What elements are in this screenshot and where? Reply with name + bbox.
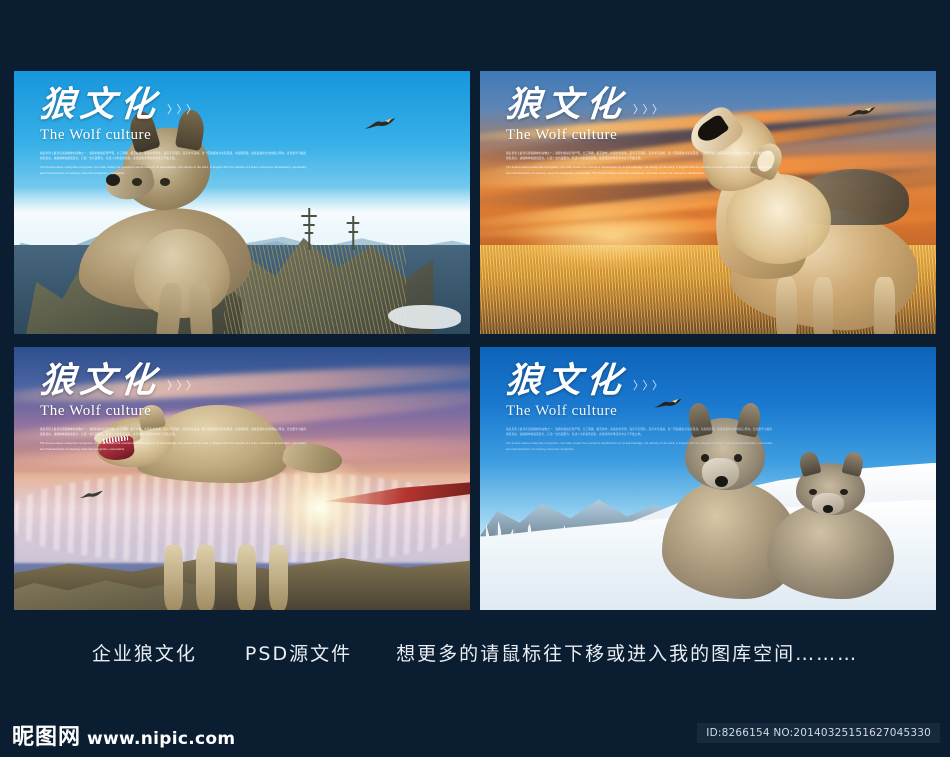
bare-tree-icon bbox=[347, 216, 360, 250]
poster-gallery-page: 狼文化 〉〉〉 The Wolf culture 狼是世界上最具有团队精神的动物… bbox=[0, 0, 950, 757]
title-row: 狼文化 〉〉〉 bbox=[40, 87, 340, 124]
poster-body-en: The human-nature enterprise recognition,… bbox=[506, 165, 774, 176]
footer-item-note: 想更多的请鼠标往下移或进入我的图库空间……… bbox=[396, 639, 858, 666]
poster-body-cn: 狼是世界上最具有团队精神的动物之一，狼群的组织纪律严明，分工明确，相互协作，在狼… bbox=[506, 427, 774, 437]
footer-caption: 企业狼文化 PSD源文件 想更多的请鼠标往下移或进入我的图库空间……… bbox=[0, 636, 950, 668]
sun-glow bbox=[507, 203, 717, 271]
chevron-decoration: 〉〉〉 bbox=[167, 377, 201, 393]
poster-two-wolves-snow[interactable]: 狼文化 〉〉〉 The Wolf culture 狼是世界上最具有团队精神的动物… bbox=[480, 347, 936, 610]
poster-snarling-wolf[interactable]: 狼文化 〉〉〉 The Wolf culture 狼是世界上最具有团队精神的动物… bbox=[14, 347, 470, 610]
brand-bar: 昵图网 www.nipic.com ID:8266154 NO:20140325… bbox=[0, 713, 950, 757]
title-row: 狼文化 〉〉〉 bbox=[506, 363, 806, 400]
poster-body-en: The human-nature enterprise recognition,… bbox=[40, 165, 308, 176]
poster-title-en: The Wolf culture bbox=[506, 127, 806, 144]
poster-howling-wolf[interactable]: 狼文化 〉〉〉 The Wolf culture 狼是世界上最具有团队精神的动物… bbox=[480, 71, 936, 334]
poster-grid: 狼文化 〉〉〉 The Wolf culture 狼是世界上最具有团队精神的动物… bbox=[14, 71, 936, 611]
soaring-bird-icon bbox=[363, 116, 397, 134]
poster-text-block: 狼文化 〉〉〉 The Wolf culture 狼是世界上最具有团队精神的动物… bbox=[40, 363, 340, 453]
title-row: 狼文化 〉〉〉 bbox=[506, 87, 806, 124]
chevron-decoration: 〉〉〉 bbox=[167, 101, 201, 117]
poster-wolf-on-rocks[interactable]: 狼文化 〉〉〉 The Wolf culture 狼是世界上最具有团队精神的动物… bbox=[14, 71, 470, 334]
poster-text-block: 狼文化 〉〉〉 The Wolf culture 狼是世界上最具有团队精神的动物… bbox=[506, 87, 806, 177]
site-logo-cn: 昵图网 bbox=[12, 719, 81, 751]
soaring-bird-icon bbox=[845, 105, 877, 122]
poster-body-en: The human-nature enterprise recognition,… bbox=[40, 441, 308, 452]
poster-title-en: The Wolf culture bbox=[40, 403, 340, 420]
site-logo[interactable]: 昵图网 www.nipic.com bbox=[12, 719, 235, 751]
poster-body-cn: 狼是世界上最具有团队精神的动物之一，狼群的组织纪律严明，分工明确，相互协作，在狼… bbox=[40, 427, 308, 437]
soaring-bird-icon bbox=[78, 489, 104, 503]
wolf-small bbox=[767, 463, 900, 599]
watermark-id-badge: ID:8266154 NO:20140325151627045330 bbox=[697, 723, 940, 743]
poster-title-cn: 狼文化 bbox=[38, 87, 161, 124]
poster-body-en: The human-nature enterprise recognition,… bbox=[506, 441, 774, 452]
poster-body-cn: 狼是世界上最具有团队精神的动物之一，狼群的组织纪律严明，分工明确，相互协作，在狼… bbox=[40, 151, 308, 161]
poster-text-block: 狼文化 〉〉〉 The Wolf culture 狼是世界上最具有团队精神的动物… bbox=[506, 363, 806, 453]
footer-item-format: PSD源文件 bbox=[245, 639, 352, 666]
poster-body-cn: 狼是世界上最具有团队精神的动物之一，狼群的组织纪律严明，分工明确，相互协作，在狼… bbox=[506, 151, 774, 161]
poster-title-en: The Wolf culture bbox=[506, 403, 806, 420]
poster-text-block: 狼文化 〉〉〉 The Wolf culture 狼是世界上最具有团队精神的动物… bbox=[40, 87, 340, 177]
chevron-decoration: 〉〉〉 bbox=[633, 101, 667, 117]
title-row: 狼文化 〉〉〉 bbox=[40, 363, 340, 400]
bare-tree-icon bbox=[301, 208, 317, 250]
poster-title-cn: 狼文化 bbox=[504, 87, 627, 124]
poster-title-cn: 狼文化 bbox=[38, 363, 161, 400]
poster-title-en: The Wolf culture bbox=[40, 127, 340, 144]
poster-title-cn: 狼文化 bbox=[504, 363, 627, 400]
site-logo-url: www.nipic.com bbox=[87, 729, 235, 749]
footer-item-title: 企业狼文化 bbox=[92, 639, 197, 666]
chevron-decoration: 〉〉〉 bbox=[633, 377, 667, 393]
